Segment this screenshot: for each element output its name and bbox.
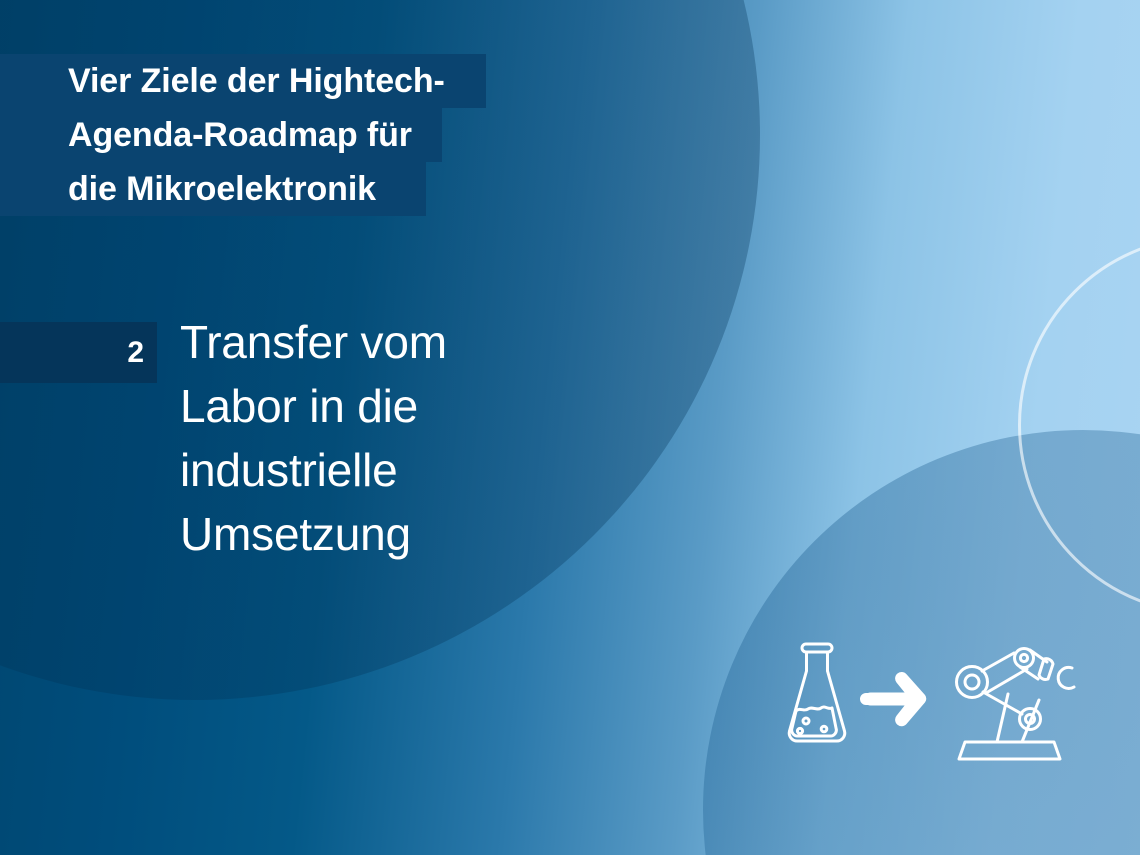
robot-arm-icon xyxy=(957,649,1075,760)
page-title: Vier Ziele der Hightech- Agenda-Roadmap … xyxy=(0,54,660,216)
page-title-line-3: die Mikroelektronik xyxy=(0,162,426,216)
page-title-line-1: Vier Ziele der Hightech- xyxy=(0,54,486,108)
goal-text-line-3: industrielle xyxy=(180,438,560,502)
goal-text: Transfer vom Labor in die industrielle U… xyxy=(180,310,560,566)
goal-text-line-1: Transfer vom xyxy=(180,310,560,374)
page-title-line-2: Agenda-Roadmap für xyxy=(0,108,442,162)
goal-text-line-2: Labor in die xyxy=(180,374,560,438)
illustration-lab-to-industry xyxy=(786,638,1096,763)
arrow-right-icon xyxy=(860,672,926,726)
goal-text-line-4: Umsetzung xyxy=(180,502,560,566)
slide-canvas: Vier Ziele der Hightech- Agenda-Roadmap … xyxy=(0,0,1140,855)
goal-number-badge: 2 xyxy=(0,322,157,383)
erlenmeyer-flask-icon xyxy=(789,644,845,741)
